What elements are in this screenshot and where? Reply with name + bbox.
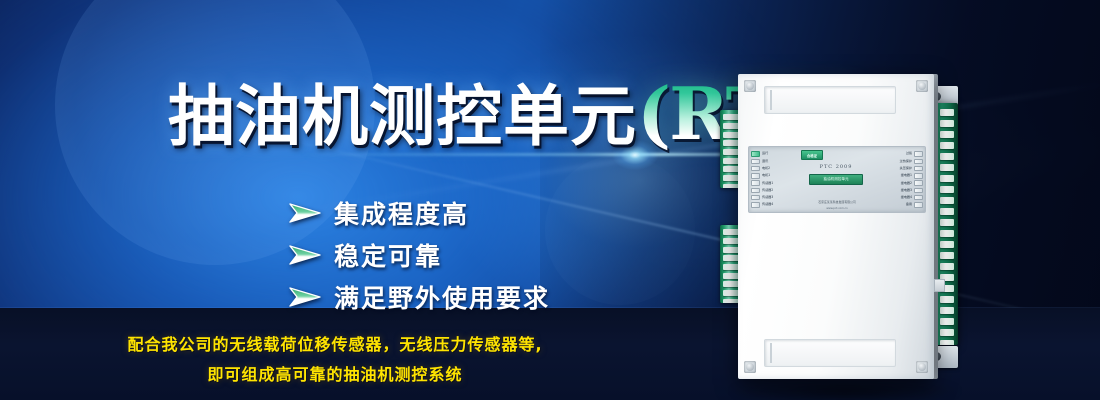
led-indicator-icon xyxy=(914,180,923,186)
bottom-vent-slot xyxy=(764,339,896,367)
terminal-pin xyxy=(940,197,954,204)
terminal-pin xyxy=(723,229,739,235)
led-indicator-icon xyxy=(914,188,923,194)
terminal-pin xyxy=(723,247,739,253)
terminal-pin xyxy=(940,329,954,336)
terminal-pin xyxy=(723,158,739,164)
device-shadow xyxy=(730,378,960,400)
led-label: 传感器1 xyxy=(762,182,773,185)
screw-icon xyxy=(744,361,756,373)
terminal-pin xyxy=(940,109,954,116)
led-row: 继电器3 xyxy=(901,187,923,193)
terminal-pin xyxy=(723,255,739,261)
led-label: 电机1 xyxy=(762,174,770,177)
led-label: 传感器4 xyxy=(762,203,773,206)
terminal-pin xyxy=(723,166,739,172)
led-label: 传感器3 xyxy=(762,196,773,199)
led-column-left: 运行 通讯 电机2 电机1 传感器1 传感器2 传感器3 传感器4 xyxy=(749,147,803,212)
terminal-pin xyxy=(940,186,954,193)
product-banner: 抽油机测控单元(RTU) 集成程度高 稳定可靠 xyxy=(0,0,1100,400)
led-indicator-icon xyxy=(914,159,923,165)
led-indicator-icon xyxy=(751,166,760,172)
website-url: www.pct.com.cn xyxy=(826,207,847,210)
led-indicator-icon xyxy=(751,151,760,157)
list-item-label: 稳定可靠 xyxy=(334,237,442,273)
footer-line-2: 即可组成高可靠的抽油机测控系统 xyxy=(0,360,670,390)
terminal-pin xyxy=(723,184,739,188)
terminal-pin xyxy=(940,340,954,345)
product-image-rtu-unit: 运行 通讯 电机2 电机1 传感器1 传感器2 传感器3 传感器4 合格证 PT… xyxy=(700,58,1000,388)
led-row: 继电器4 xyxy=(901,195,923,201)
terminal-pin xyxy=(940,307,954,314)
badge-label: 合格证 xyxy=(807,153,817,158)
led-label: 继电器1 xyxy=(901,174,912,177)
panel-center: 合格证 PTC 2009 抽油机测控单元 石家庄某某科技发展有限公司 www.p… xyxy=(803,147,869,212)
led-label: 运行 xyxy=(762,152,768,155)
led-row: 通讯 xyxy=(751,158,801,164)
top-vent-slot xyxy=(764,86,896,114)
led-row: 传感器3 xyxy=(751,195,801,201)
led-row: 继电器2 xyxy=(901,180,923,186)
led-label: 电机2 xyxy=(762,167,770,170)
list-item: 满足野外使用要求 xyxy=(288,276,550,318)
terminal-pin xyxy=(723,281,739,287)
led-label: 过载 xyxy=(906,152,912,155)
terminal-pin xyxy=(940,142,954,149)
led-indicator-icon xyxy=(914,195,923,201)
model-number: PTC 2009 xyxy=(820,164,853,170)
led-indicator-icon xyxy=(751,180,760,186)
led-label: 继电器2 xyxy=(901,182,912,185)
terminal-pin xyxy=(723,175,739,181)
title-chinese: 抽油机测控单元 xyxy=(168,78,637,155)
led-indicator-icon xyxy=(914,151,923,157)
led-label: 继电器3 xyxy=(901,189,912,192)
terminal-pin xyxy=(940,153,954,160)
led-indicator-icon xyxy=(914,166,923,172)
led-label: 备用 xyxy=(906,203,912,206)
led-row: 电机1 xyxy=(751,173,801,179)
led-label: 继电器4 xyxy=(901,196,912,199)
terminal-pin xyxy=(723,140,739,146)
led-indicator-icon xyxy=(751,188,760,194)
arrow-right-icon xyxy=(288,244,322,266)
list-item: 稳定可靠 xyxy=(288,234,550,276)
led-indicator-icon xyxy=(751,195,760,201)
terminal-pin xyxy=(940,230,954,237)
side-port xyxy=(934,279,945,292)
led-indicator-icon xyxy=(751,173,760,179)
list-item-label: 集成程度高 xyxy=(334,195,469,231)
terminal-pin xyxy=(940,296,954,303)
list-item-label: 满足野外使用要求 xyxy=(334,279,550,315)
terminal-pin xyxy=(940,219,954,226)
device-body xyxy=(738,74,934,379)
led-indicator-icon xyxy=(914,202,923,208)
company-name: 石家庄某某科技发展有限公司 xyxy=(818,200,856,204)
arrow-right-icon xyxy=(288,202,322,224)
terminal-pin xyxy=(940,252,954,259)
led-row: 传感器2 xyxy=(751,187,801,193)
terminal-pin xyxy=(940,120,954,127)
led-row: 传感器4 xyxy=(751,202,801,208)
terminal-pin xyxy=(723,299,739,303)
terminal-pin xyxy=(723,114,739,120)
footer-text: 配合我公司的无线载荷位移传感器，无线压力传感器等, 即可组成高可靠的抽油机测控系… xyxy=(0,330,670,390)
led-row: 运行 xyxy=(751,151,801,157)
certification-badge: 合格证 xyxy=(801,150,823,160)
footer-line-1: 配合我公司的无线载荷位移传感器，无线压力传感器等, xyxy=(0,330,670,360)
led-row: 继电器1 xyxy=(901,173,923,179)
led-row: 电机2 xyxy=(751,166,801,172)
terminal-pin xyxy=(940,241,954,248)
led-label: 失压保护 xyxy=(900,167,912,170)
terminal-pin xyxy=(723,132,739,138)
led-indicator-icon xyxy=(751,159,760,165)
led-column-right: 过载 过热保护 失压保护 继电器1 继电器2 继电器3 继电器4 备用 xyxy=(869,147,925,212)
screw-icon xyxy=(916,361,928,373)
lcd-text: 抽油机测控单元 xyxy=(823,177,848,182)
led-indicator-icon xyxy=(751,202,760,208)
led-row: 失压保护 xyxy=(900,166,923,172)
terminal-pin xyxy=(723,273,739,279)
terminal-pin xyxy=(723,290,739,296)
terminal-pin xyxy=(723,149,739,155)
led-row: 过载 xyxy=(906,151,923,157)
feature-list: 集成程度高 稳定可靠 满足野外使用要求 xyxy=(288,192,550,318)
lcd-display: 抽油机测控单元 xyxy=(809,174,863,185)
screw-icon xyxy=(916,80,928,92)
led-indicator-icon xyxy=(914,173,923,179)
terminal-pin xyxy=(940,263,954,270)
led-label: 通讯 xyxy=(762,160,768,163)
terminal-pin xyxy=(940,131,954,138)
terminal-pin xyxy=(940,208,954,215)
screw-icon xyxy=(744,80,756,92)
terminal-pin xyxy=(940,318,954,325)
terminal-pin xyxy=(940,175,954,182)
led-row: 传感器1 xyxy=(751,180,801,186)
led-row: 备用 xyxy=(906,202,923,208)
led-row: 过热保护 xyxy=(900,158,923,164)
list-item: 集成程度高 xyxy=(288,192,550,234)
arrow-right-icon xyxy=(288,286,322,308)
terminal-pin xyxy=(723,123,739,129)
device-label-panel: 运行 通讯 电机2 电机1 传感器1 传感器2 传感器3 传感器4 合格证 PT… xyxy=(748,146,926,213)
terminal-pin xyxy=(940,164,954,171)
led-label: 传感器2 xyxy=(762,189,773,192)
terminal-pin xyxy=(723,238,739,244)
led-label: 过热保护 xyxy=(900,160,912,163)
terminal-pin xyxy=(723,264,739,270)
